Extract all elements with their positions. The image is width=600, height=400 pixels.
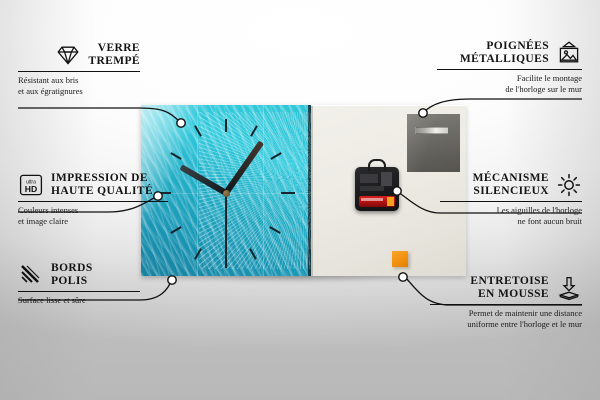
arrow-down-onto-pad-icon (556, 275, 582, 301)
callout-entretoise-en-mousse: ENTRETOISE EN MOUSSE Permet de maintenir… (430, 275, 582, 329)
callout-sub-line1: Surface lisse et sûre (18, 295, 140, 306)
callout-rule (18, 71, 140, 72)
diagonal-lines-icon (18, 262, 44, 288)
callout-sub-line2: uniforme entre l'horloge et le mur (430, 319, 582, 330)
callout-title-line2: POLIS (51, 275, 93, 288)
callout-title-line1: BORDS (51, 262, 93, 275)
clock-center-cap (223, 190, 230, 197)
callout-title-line2: TREMPÉ (88, 55, 140, 68)
mechanism-label (360, 186, 384, 191)
callout-title-line2: EN MOUSSE (470, 288, 549, 301)
foam-spacer (392, 251, 408, 267)
battery (359, 196, 395, 207)
callout-title-line1: ENTRETOISE (470, 275, 549, 288)
infographic-canvas: VERRE TREMPÉ Résistant aux bris et aux é… (0, 0, 600, 400)
callout-title-line2: HAUTE QUALITÉ (51, 185, 153, 198)
callout-sub-line2: ne font aucun bruit (440, 216, 582, 227)
callout-verre-trempe: VERRE TREMPÉ Résistant aux bris et aux é… (18, 42, 140, 96)
callout-title-line2: MÉTALLIQUES (460, 53, 549, 66)
callout-impression-haute-qualite: ultra HD IMPRESSION DE HAUTE QUALITÉ Cou… (18, 172, 168, 226)
hanging-loop (368, 159, 386, 171)
callout-rule (430, 304, 582, 305)
mechanism-label (360, 174, 378, 183)
callout-title-line1: IMPRESSION DE (51, 172, 153, 185)
dial-tick (281, 192, 295, 194)
svg-text:HD: HD (25, 184, 37, 194)
dial-tick (225, 255, 227, 268)
clock-second-hand (225, 193, 227, 255)
dial-tick (170, 226, 181, 234)
callout-title-line1: VERRE (88, 42, 140, 55)
callout-title-line2: SILENCIEUX (473, 185, 549, 198)
callout-bords-polis: BORDS POLIS Surface lisse et sûre (18, 262, 140, 306)
ultra-hd-icon: ultra HD (18, 172, 44, 198)
callout-title-line1: MÉCANISME (473, 172, 549, 185)
callout-rule (440, 201, 582, 202)
diamond-icon (55, 42, 81, 68)
print-seam (263, 105, 264, 276)
callout-sub-line1: Les aiguilles de l'horloge (440, 205, 582, 216)
callout-sub-line2: de l'horloge sur le mur (437, 84, 582, 95)
callout-sub-line2: et aux égratignures (18, 86, 140, 97)
callout-poignees-metalliques: POIGNÉES MÉTALLIQUES Facilite le montage… (437, 40, 582, 94)
panel-top-edge (311, 105, 466, 106)
metallic-handle-plate (407, 114, 460, 172)
mechanism-label (381, 172, 392, 186)
callout-sub-line1: Couleurs intenses (18, 205, 168, 216)
callout-title-line1: POIGNÉES (460, 40, 549, 53)
handle-strip (415, 127, 449, 134)
callout-rule (437, 69, 582, 70)
battery-print (361, 198, 383, 201)
callout-sub-line1: Résistant aux bris (18, 75, 140, 86)
callout-mecanisme-silencieux: MÉCANISME SILENCIEUX Les aiguilles de l'… (440, 172, 582, 226)
callout-rule (18, 201, 168, 202)
clock-mechanism (355, 167, 399, 211)
battery-terminal (387, 197, 394, 206)
framed-picture-icon (556, 40, 582, 66)
callout-sub-line1: Facilite le montage (437, 73, 582, 84)
callout-sub-line2: et image claire (18, 216, 168, 227)
callout-sub-line1: Permet de maintenir une distance (430, 308, 582, 319)
gear-icon (556, 172, 582, 198)
dial-tick (225, 119, 227, 132)
callout-rule (18, 291, 140, 292)
